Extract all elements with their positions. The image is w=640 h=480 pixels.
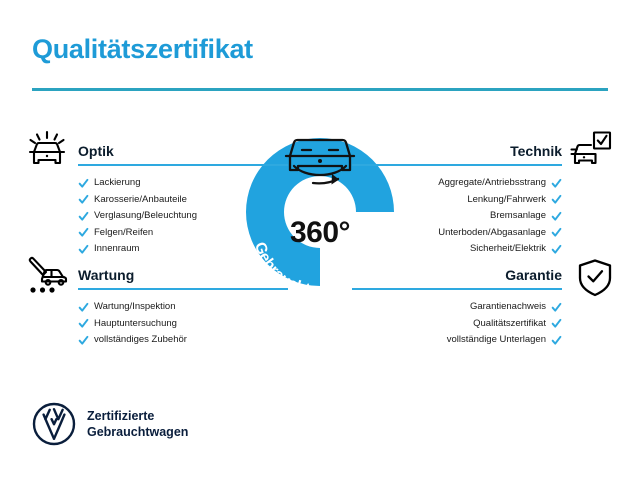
volkswagen-logo: [32, 402, 76, 446]
list-item-label: Innenraum: [94, 241, 139, 258]
list-item: Lackierung: [78, 175, 288, 192]
section-garantie: Garantie Garantienachweis Qualitätszerti…: [352, 266, 562, 349]
section-heading-technik: Technik: [352, 142, 562, 160]
list-item-label: Verglasung/Beleuchtung: [94, 208, 197, 225]
list-item-label: vollständige Unterlagen: [447, 332, 546, 349]
list-item-label: Wartung/Inspektion: [94, 299, 176, 316]
vw-footer-text: Zertifizierte Gebrauchtwagen: [87, 408, 188, 440]
list-item-label: vollständiges Zubehör: [94, 332, 187, 349]
section-wartung: Wartung Wartung/Inspektion Hauptuntersuc…: [78, 266, 288, 349]
check-icon: [78, 194, 89, 205]
checklist-optik: Lackierung Karosserie/Anbauteile Verglas…: [78, 175, 288, 258]
checklist-wartung: Wartung/Inspektion Hauptuntersuchung vol…: [78, 299, 288, 349]
check-icon: [78, 335, 89, 346]
list-item-label: Aggregate/Antriebsstrang: [438, 175, 546, 192]
section-optik: Optik Lackierung Karosserie/Anbauteile V…: [78, 142, 288, 258]
check-icon: [551, 302, 562, 313]
check-icon: [551, 227, 562, 238]
wrench-car-icon: [26, 256, 68, 296]
section-heading-wartung: Wartung: [78, 266, 288, 284]
section-heading-optik: Optik: [78, 142, 288, 160]
title-divider: [32, 88, 608, 91]
shield-check-icon: [574, 258, 616, 298]
list-item: Sicherheit/Elektrik: [352, 241, 562, 258]
list-item: Qualitätszertifikat: [352, 316, 562, 333]
list-item: Karosserie/Anbauteile: [78, 192, 288, 209]
list-item-label: Felgen/Reifen: [94, 225, 153, 242]
check-icon: [78, 302, 89, 313]
list-item: Garantienachweis: [352, 299, 562, 316]
section-divider-garantie: [352, 288, 562, 290]
list-item-label: Karosserie/Anbauteile: [94, 192, 187, 209]
list-item: Aggregate/Antriebsstrang: [352, 175, 562, 192]
section-divider-wartung: [78, 288, 288, 290]
list-item: vollständige Unterlagen: [352, 332, 562, 349]
list-item-label: Lackierung: [94, 175, 140, 192]
check-icon: [78, 227, 89, 238]
section-heading-garantie: Garantie: [352, 266, 562, 284]
check-icon: [551, 194, 562, 205]
check-icon: [551, 335, 562, 346]
car-checkbox-icon: [570, 130, 612, 170]
page-title: Qualitätszertifikat: [32, 34, 253, 65]
check-icon: [78, 318, 89, 329]
list-item: Wartung/Inspektion: [78, 299, 288, 316]
list-item: Innenraum: [78, 241, 288, 258]
list-item: Felgen/Reifen: [78, 225, 288, 242]
list-item: vollständiges Zubehör: [78, 332, 288, 349]
list-item-label: Sicherheit/Elektrik: [470, 241, 546, 258]
vw-footer-line1: Zertifizierte: [87, 409, 154, 423]
check-icon: [551, 244, 562, 255]
section-divider-technik: [352, 164, 562, 166]
checklist-garantie: Garantienachweis Qualitätszertifikat vol…: [352, 299, 562, 349]
list-item-label: Unterboden/Abgasanlage: [438, 225, 546, 242]
check-icon: [78, 178, 89, 189]
check-icon: [78, 211, 89, 222]
list-item-label: Bremsanlage: [490, 208, 546, 225]
section-divider-optik: [78, 164, 288, 166]
list-item: Lenkung/Fahrwerk: [352, 192, 562, 209]
vw-footer-line2: Gebrauchtwagen: [87, 425, 188, 439]
list-item-label: Qualitätszertifikat: [473, 316, 546, 333]
checklist-technik: Aggregate/Antriebsstrang Lenkung/Fahrwer…: [352, 175, 562, 258]
vw-certified-footer: Zertifizierte Gebrauchtwagen: [32, 402, 188, 446]
list-item-label: Lenkung/Fahrwerk: [467, 192, 546, 209]
list-item-label: Hauptuntersuchung: [94, 316, 177, 333]
section-technik: Technik Aggregate/Antriebsstrang Lenkung…: [352, 142, 562, 258]
list-item-label: Garantienachweis: [470, 299, 546, 316]
check-icon: [551, 211, 562, 222]
list-item: Unterboden/Abgasanlage: [352, 225, 562, 242]
check-icon: [551, 178, 562, 189]
list-item: Bremsanlage: [352, 208, 562, 225]
car-shine-icon: [26, 130, 68, 170]
quality-certificate-page: Qualitätszertifikat: [0, 0, 640, 480]
list-item: Hauptuntersuchung: [78, 316, 288, 333]
list-item: Verglasung/Beleuchtung: [78, 208, 288, 225]
check-icon: [78, 244, 89, 255]
check-icon: [551, 318, 562, 329]
